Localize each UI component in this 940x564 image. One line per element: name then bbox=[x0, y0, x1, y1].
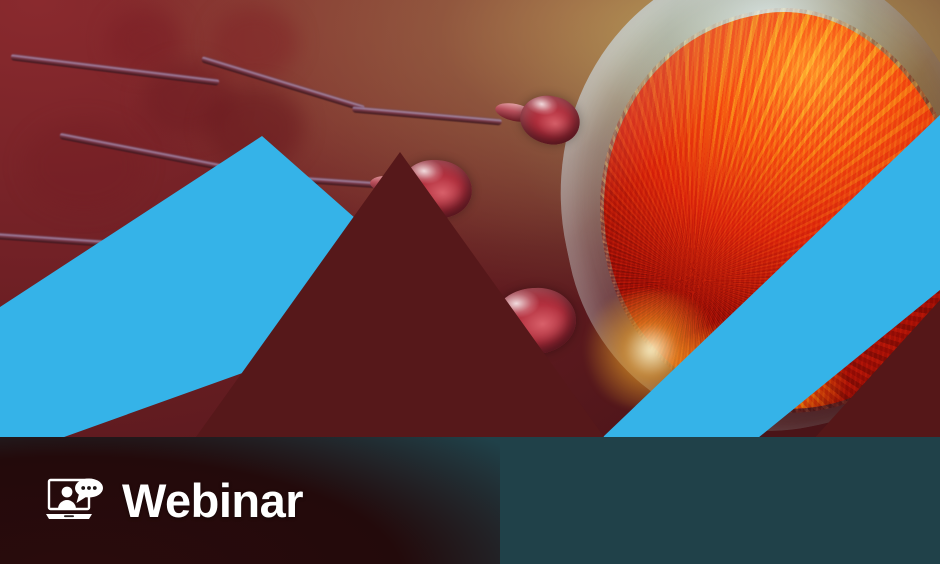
webinar-label: Webinar bbox=[122, 477, 303, 524]
footer-content: Webinar bbox=[0, 437, 940, 564]
webinar-laptop-chat-icon bbox=[46, 476, 108, 526]
webinar-banner: Webinar bbox=[0, 0, 940, 564]
